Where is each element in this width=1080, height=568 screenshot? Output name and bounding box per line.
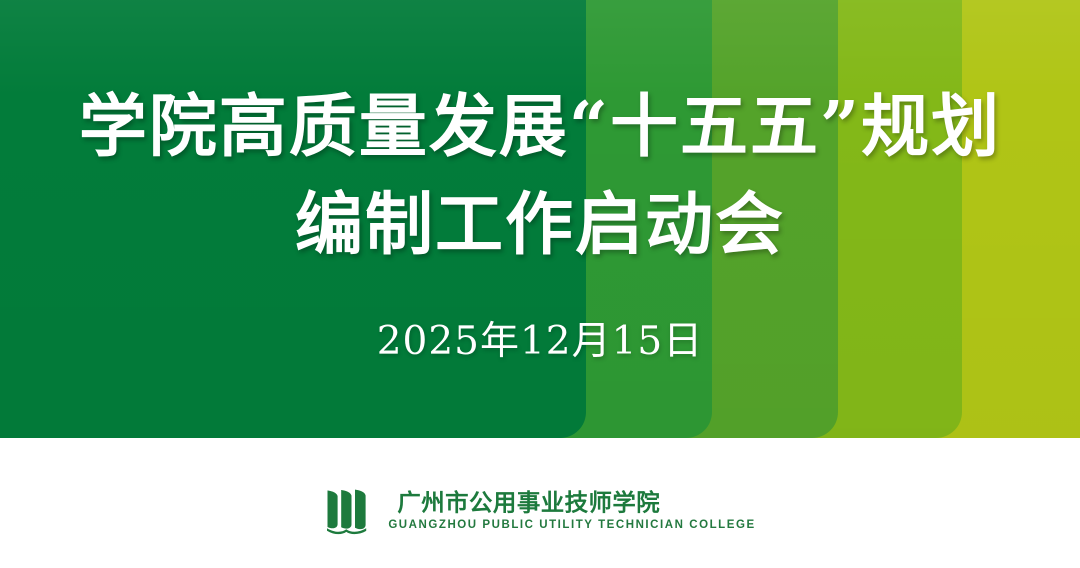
institution-name-block: 广州市公用事业技师学院 GUANGZHOU PUBLIC UTILITY TEC… <box>388 487 755 532</box>
institution-logo: 广州市公用事业技师学院 GUANGZHOU PUBLIC UTILITY TEC… <box>324 483 755 535</box>
slide-title-line-2: 编制工作启动会 <box>0 176 1080 274</box>
slide-date: 2025年12月15日 <box>0 318 1080 366</box>
three-leaf-book-mark-icon <box>324 483 376 535</box>
slide-footer: 广州市公用事业技师学院 GUANGZHOU PUBLIC UTILITY TEC… <box>0 438 1080 568</box>
institution-name-cn-text: 广州市公用事业技师学院 <box>398 488 661 516</box>
institution-name-en: GUANGZHOU PUBLIC UTILITY TECHNICIAN COLL… <box>388 519 755 532</box>
title-slide: 学院高质量发展“十五五”规划 编制工作启动会 2025年12月15日 广州市公用… <box>0 0 1080 568</box>
slide-title-line-1: 学院高质量发展“十五五”规划 <box>0 78 1080 176</box>
institution-name-cn: 广州市公用事业技师学院 <box>388 487 688 517</box>
headline-block: 学院高质量发展“十五五”规划 编制工作启动会 2025年12月15日 <box>0 78 1080 366</box>
